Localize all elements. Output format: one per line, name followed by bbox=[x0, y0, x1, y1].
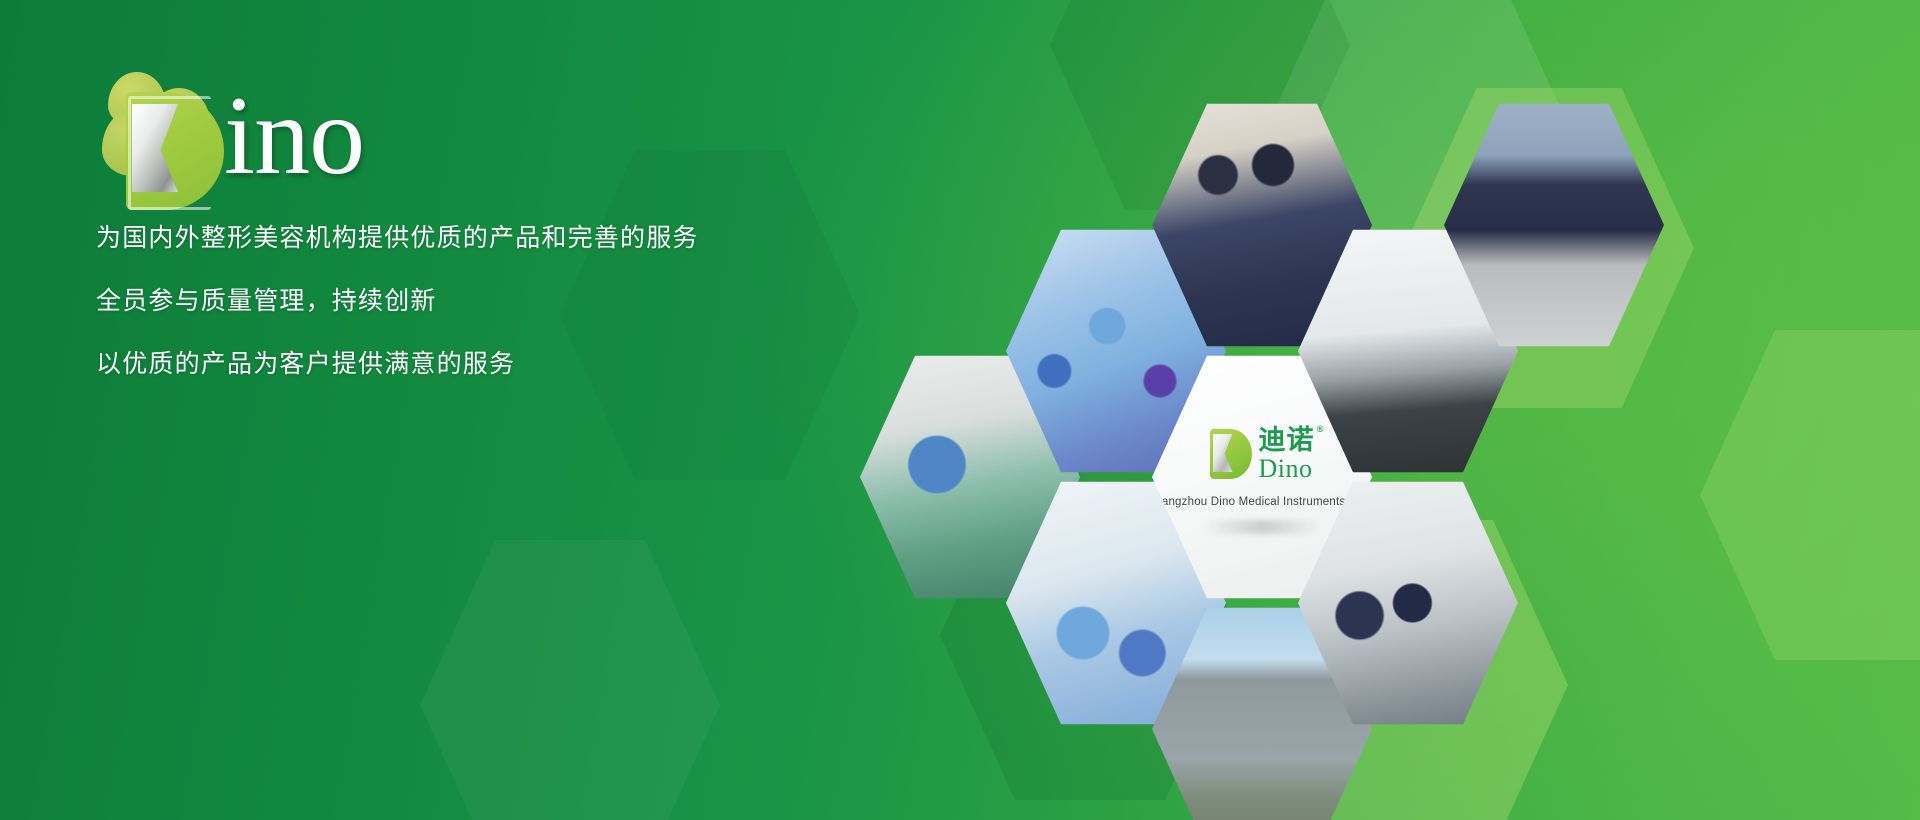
center-logo-row: 迪诺® Dino bbox=[1210, 427, 1315, 482]
center-blurred-text bbox=[1202, 520, 1322, 534]
center-logo-text: 迪诺® Dino bbox=[1259, 427, 1315, 482]
center-logo-cn-text: 迪诺 bbox=[1259, 425, 1315, 455]
center-d-mark-icon bbox=[1210, 429, 1252, 479]
center-company-line: Hangzhou Dino Medical Instruments Co.. bbox=[1153, 496, 1370, 508]
center-logo-cn: 迪诺® bbox=[1259, 427, 1315, 454]
hexagon-photo-collage: 迪诺® Dino Hangzhou Dino Medical Instrumen… bbox=[0, 0, 1920, 820]
registered-mark-icon: ® bbox=[1317, 425, 1325, 434]
hero-banner: ino 为国内外整形美容机构提供优质的产品和完善的服务 全员参与质量管理，持续创… bbox=[0, 0, 1920, 820]
center-logo-en: Dino bbox=[1259, 456, 1315, 482]
